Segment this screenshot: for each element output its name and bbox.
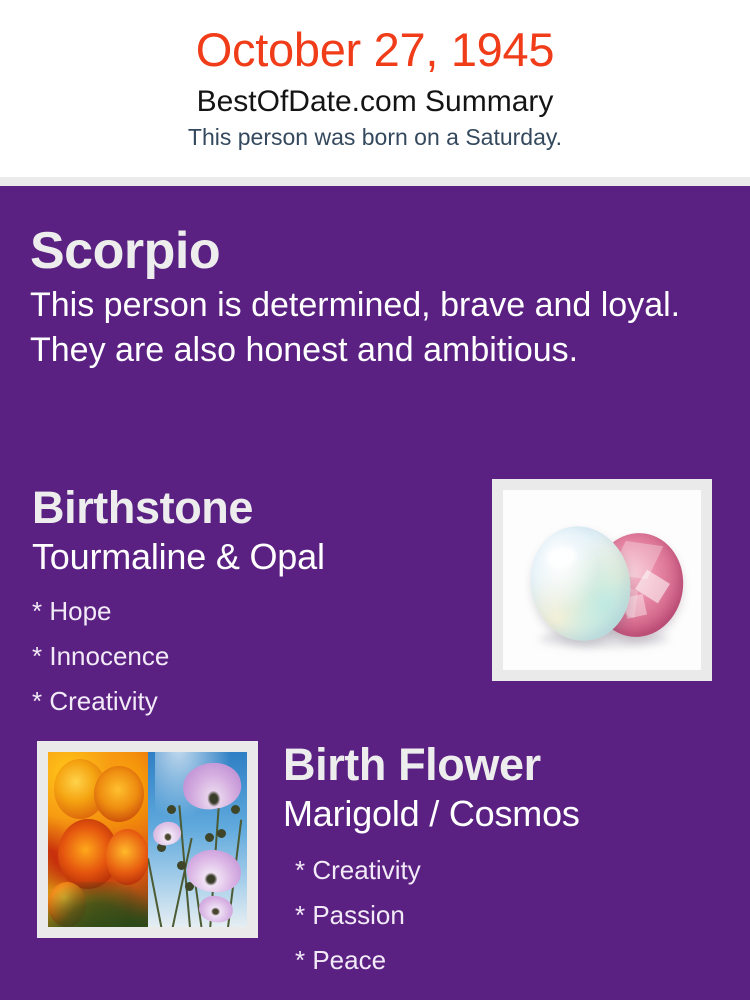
birthstone-title: Birthstone — [32, 481, 472, 535]
flower-diptych-scene — [48, 752, 247, 927]
page-title-date: October 27, 1945 — [0, 22, 750, 78]
flower-bud — [231, 805, 240, 814]
list-item: * Innocence — [32, 634, 472, 679]
birth-flower-trait-list: * Creativity * Passion * Peace — [283, 848, 723, 983]
flower-stem — [148, 858, 164, 927]
marigold-photo-half — [48, 752, 148, 927]
summary-page: October 27, 1945 BestOfDate.com Summary … — [0, 0, 750, 1000]
birth-flower-section: Birth Flower Marigold / Cosmos * Creativ… — [283, 738, 723, 983]
marigold-bloom — [94, 766, 144, 822]
content-panel: Scorpio This person is determined, brave… — [0, 186, 750, 1000]
birth-flower-subtitle: Marigold / Cosmos — [283, 792, 723, 836]
zodiac-section: Scorpio This person is determined, brave… — [30, 221, 700, 373]
flower-bud — [167, 805, 176, 814]
birthstone-section: Birthstone Tourmaline & Opal * Hope * In… — [32, 481, 472, 724]
gemstone-scene — [503, 490, 701, 670]
birth-day-note: This person was born on a Saturday. — [0, 123, 750, 151]
site-name-subtitle: BestOfDate.com Summary — [0, 84, 750, 120]
header-divider — [0, 177, 750, 186]
marigold-bloom — [106, 829, 148, 885]
birthstone-image-inner — [503, 490, 701, 670]
birthstone-subtitle: Tourmaline & Opal — [32, 535, 472, 579]
list-item: * Hope — [32, 589, 472, 634]
birthstone-image — [492, 479, 712, 681]
flower-bud — [177, 861, 186, 870]
list-item: * Peace — [295, 938, 723, 983]
birthstone-trait-list: * Hope * Innocence * Creativity — [32, 589, 472, 724]
zodiac-sign-name: Scorpio — [30, 221, 700, 281]
flower-bud — [205, 833, 214, 842]
list-item: * Creativity — [32, 679, 472, 724]
list-item: * Creativity — [295, 848, 723, 893]
birth-flower-image — [37, 741, 258, 938]
page-header: October 27, 1945 BestOfDate.com Summary … — [0, 0, 750, 177]
birth-flower-title: Birth Flower — [283, 738, 723, 792]
list-item: * Passion — [295, 893, 723, 938]
zodiac-description: This person is determined, brave and loy… — [30, 283, 690, 373]
birth-flower-image-inner — [48, 752, 247, 927]
marigold-bloom — [48, 882, 86, 928]
flower-bud — [217, 829, 226, 838]
cosmos-photo-half — [148, 752, 248, 927]
